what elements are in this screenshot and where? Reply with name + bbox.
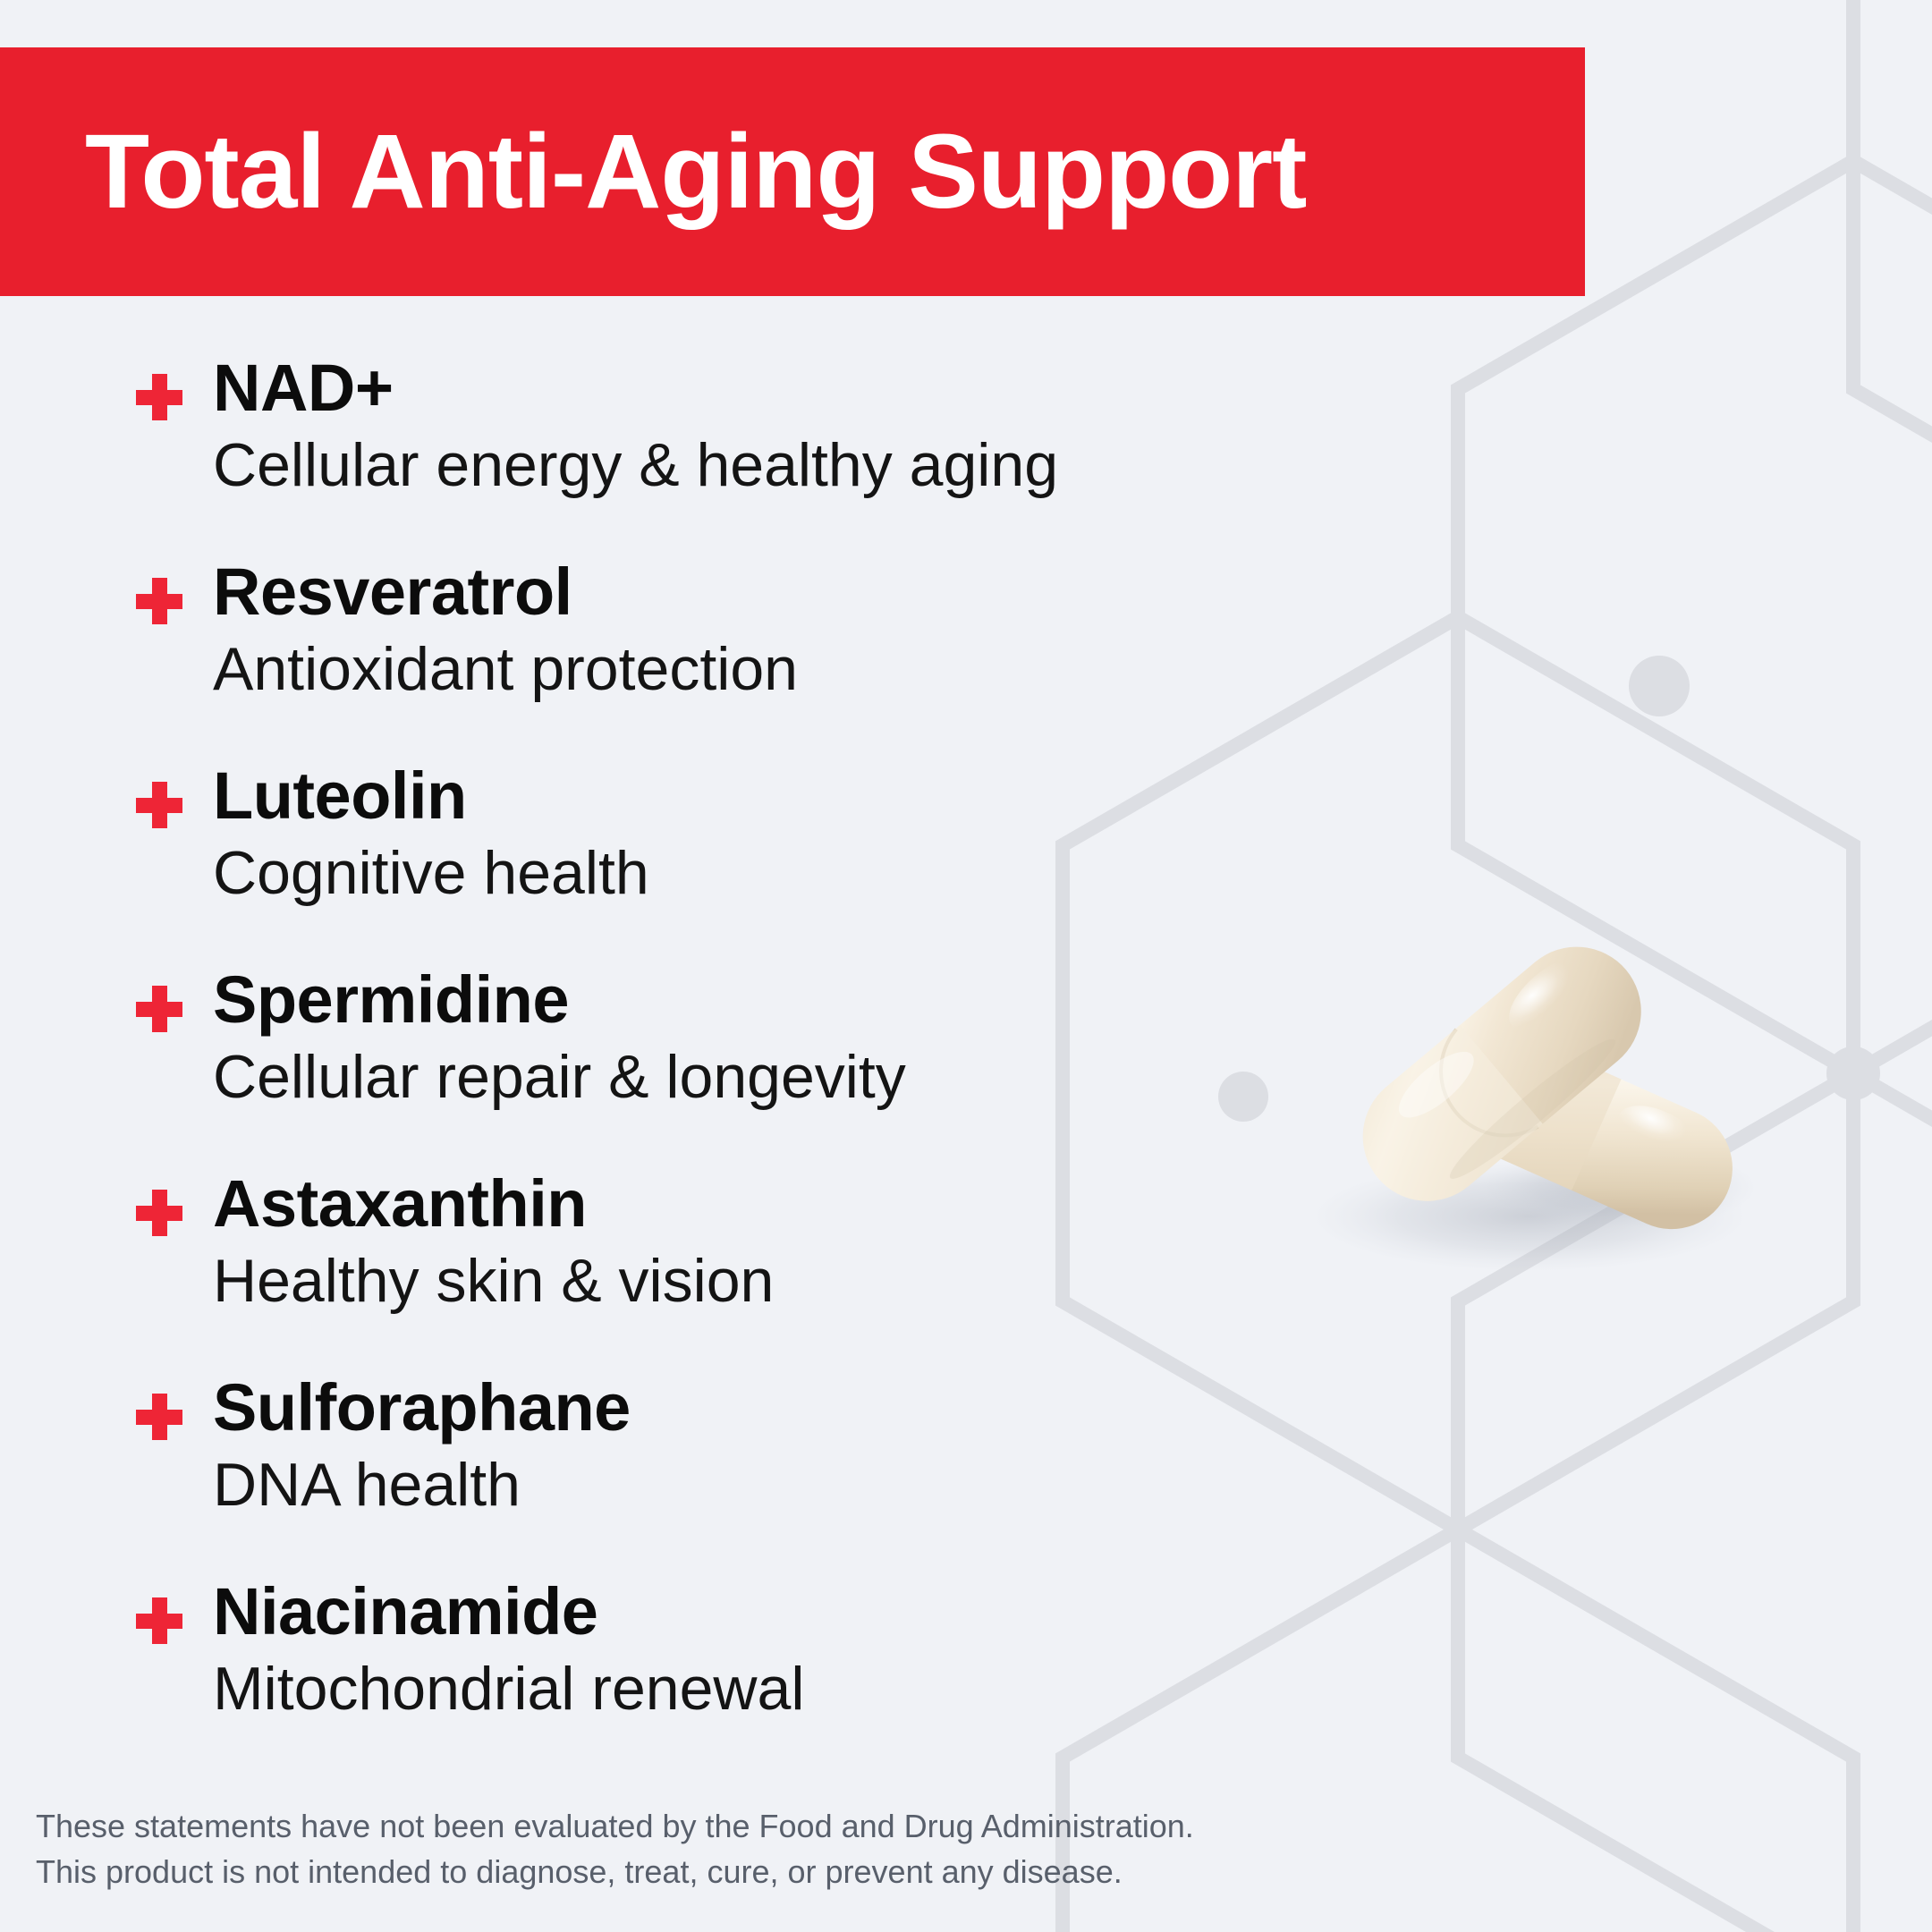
list-item: Spermidine Cellular repair & longevity — [0, 968, 1118, 1172]
page-title: Total Anti-Aging Support — [0, 119, 1306, 225]
list-item: Resveratrol Antioxidant protection — [0, 560, 1118, 764]
ingredient-name: Resveratrol — [213, 553, 572, 631]
ingredient-description: Cognitive health — [213, 837, 649, 909]
list-item: NAD+ Cellular energy & healthy aging — [0, 356, 1118, 560]
plus-icon — [136, 782, 182, 828]
ingredient-description: Cellular energy & healthy aging — [213, 429, 1058, 501]
ingredient-name: Niacinamide — [213, 1572, 597, 1650]
ingredient-description: Antioxidant protection — [213, 633, 798, 705]
header-banner: Total Anti-Aging Support — [0, 47, 1585, 296]
ingredient-name: Spermidine — [213, 961, 569, 1038]
ingredient-list: NAD+ Cellular energy & healthy aging Res… — [0, 356, 1118, 1784]
plus-icon — [136, 1190, 182, 1236]
ingredient-description: Cellular repair & longevity — [213, 1041, 906, 1113]
plus-icon — [136, 1597, 182, 1644]
list-item: Sulforaphane DNA health — [0, 1376, 1118, 1580]
plus-icon — [136, 578, 182, 624]
ingredient-description: DNA health — [213, 1449, 521, 1521]
ingredient-name: Sulforaphane — [213, 1368, 631, 1446]
list-item: Astaxanthin Healthy skin & vision — [0, 1172, 1118, 1376]
ingredient-description: Mitochondrial renewal — [213, 1653, 804, 1724]
list-item: Luteolin Cognitive health — [0, 764, 1118, 968]
plus-icon — [136, 1394, 182, 1440]
ingredient-description: Healthy skin & vision — [213, 1245, 774, 1317]
disclaimer: These statements have not been evaluated… — [36, 1803, 1194, 1894]
disclaimer-line-2: This product is not intended to diagnose… — [36, 1849, 1194, 1894]
ingredient-name: Luteolin — [213, 757, 467, 835]
plus-icon — [136, 986, 182, 1032]
disclaimer-line-1: These statements have not been evaluated… — [36, 1803, 1194, 1849]
product-capsules-image — [1234, 832, 1789, 1297]
ingredient-name: Astaxanthin — [213, 1165, 587, 1242]
ingredient-name: NAD+ — [213, 349, 394, 427]
infographic-canvas: Total Anti-Aging Support NAD+ Cellular e… — [0, 0, 1932, 1932]
plus-icon — [136, 374, 182, 420]
list-item: Niacinamide Mitochondrial renewal — [0, 1580, 1118, 1784]
